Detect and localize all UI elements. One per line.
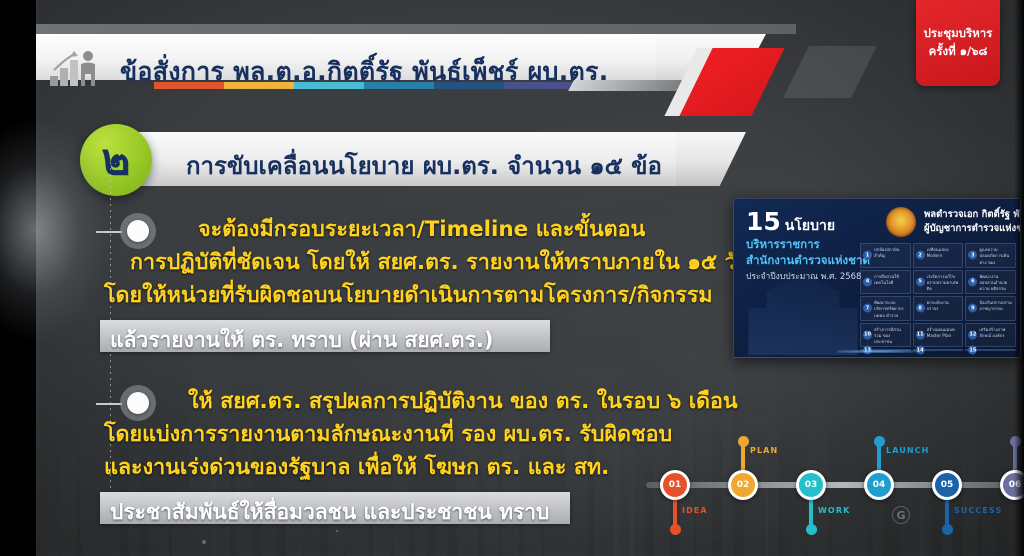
- policy-label-8: ยกระดับงาน จราจร: [927, 300, 961, 317]
- timeline-cap-05: [942, 524, 953, 535]
- timeline-cap-02: [738, 436, 749, 447]
- bullet-1-line-3: โดยให้หน่วยที่รับผิดชอบนโยบายดำเนินการตา…: [104, 285, 713, 307]
- badge-line-1: ประชุมบริหาร: [924, 26, 993, 42]
- policy-number-5: 5: [916, 277, 925, 286]
- bullet-1-line-2: การปฏิบัติที่ชัดเจน โดยให้ สยศ.ตร. รายงา…: [130, 252, 751, 274]
- policy-cell-3: 3ดูแลความ ปลอดภัยการเดินทาง ของประชาชน: [965, 243, 1016, 268]
- bullet-1-line-1: จะต้องมีกรอบระยะเวลา/Timeline และขั้นตอน: [198, 219, 645, 241]
- timeline-node-04[interactable]: 04: [864, 470, 894, 500]
- timeline-cap-04: [874, 436, 885, 447]
- policy-number-7: 7: [863, 304, 872, 313]
- bullet-connector-line: [96, 231, 122, 233]
- policy-number-15: 15: [968, 346, 977, 355]
- inset-fiscal-year: ประจำปีงบประมาณ พ.ศ. 2568: [746, 269, 861, 283]
- inset-policy-grid: 1ปกป้องสถาบัน สำคัญ2เปลี่ยนแปลง Modern3ด…: [860, 243, 1016, 351]
- sparkle-dot: [202, 540, 206, 544]
- policy-number-3: 3: [968, 251, 977, 260]
- timeline-node-06[interactable]: 06: [1000, 470, 1024, 500]
- timeline-cap-01: [670, 524, 681, 535]
- inset-official-name: พลตำรวจเอก กิตติ์รัฐ พันธุ์เพ็ชร์ ผู้บัญ…: [924, 208, 1021, 237]
- policy-number-12: 12: [968, 330, 977, 339]
- section-title: การขับเคลื่อนนโยบาย ผบ.ตร. จำนวน ๑๕ ข้อ: [186, 146, 662, 185]
- slide-header: ข้อสั่งการ พล.ต.อ.กิตติ์รัฐ พันธุ์เพ็ชร์…: [36, 24, 1024, 96]
- skyline-block: [60, 420, 77, 556]
- policy-cell-5: 5เร่งรัดการแก้ไข ปราบปรามยาเสพติด: [913, 270, 964, 295]
- bullet-marker-1: [120, 213, 156, 249]
- accent-segment-5: [434, 82, 504, 89]
- header-top-strip: [36, 24, 796, 34]
- inset-policy-count: 15นโยบาย: [746, 209, 835, 234]
- process-timeline: G 01IDEA02PLAN03WORK04LAUNCH05SUCCESS06T…: [646, 432, 1024, 544]
- policy-cell-11: 11สร้างแผนแม่บท Master Plan: [913, 323, 964, 348]
- section-header: ๒ การขับเคลื่อนนโยบาย ผบ.ตร. จำนวน ๑๕ ข้…: [58, 128, 758, 190]
- timeline-label-work: WORK: [818, 506, 850, 515]
- policy-number-9: 9: [968, 304, 977, 313]
- policy-cell-4: 4การสืบสวนใช้ เทคโนโลยี: [860, 270, 911, 295]
- policy-number-14: 14: [916, 346, 925, 355]
- policy-label-12: เสริมสร้างภาพลักษณ์ องค์กร: [979, 327, 1013, 344]
- policy-number-1: 1: [863, 251, 872, 260]
- policy-label-10: สร้างการมีส่วนร่วม ของประชาชน: [874, 327, 908, 344]
- slide-screenshot: ข้อสั่งการ พล.ต.อ.กิตติ์รัฐ พันธุ์เพ็ชร์…: [0, 0, 1024, 556]
- policy-cell-8: 8ยกระดับงาน จราจร: [913, 296, 964, 321]
- policy-cell-1: 1ปกป้องสถาบัน สำคัญ: [860, 243, 911, 268]
- policy-label-2: เปลี่ยนแปลง Modern: [927, 247, 961, 264]
- policy-label-7: พัฒนาระบบ บริหารทรัพยากรบุคคล ตำรวจ: [874, 300, 908, 317]
- policy-label-9: ป้องกันปราบปราม อาชญากรรม: [979, 300, 1013, 317]
- inset-subtitle-line-2: สำนักงานตำรวจแห่งชาติ: [746, 253, 870, 269]
- policy-label-3: ดูแลความ ปลอดภัยการเดินทาง ของประชาชน: [979, 247, 1013, 264]
- timeline-cap-06: [1010, 436, 1021, 447]
- policy-cell-6: 6พัฒนางาน สอบสวนอำนวยความ ยุติธรรม: [965, 270, 1016, 295]
- timeline-node-01[interactable]: 01: [660, 470, 690, 500]
- timeline-node-03[interactable]: 03: [796, 470, 826, 500]
- skyline-block: [630, 448, 645, 556]
- bullet-spine: [110, 150, 111, 500]
- policy-number-6: 6: [968, 277, 977, 286]
- highlight-band-text-1: แล้วรายงานให้ ตร. ทราบ (ผ่าน สยศ.ตร.): [110, 324, 493, 357]
- timeline-label-success: SUCCESS: [954, 506, 1002, 515]
- timeline-node-05[interactable]: 05: [932, 470, 962, 500]
- accent-segment-2: [224, 82, 294, 89]
- policy-cell-15: 15บริหารงบประมาณ: [965, 349, 1016, 351]
- bullet-marker-2: [120, 385, 156, 421]
- sparkle-dot: [282, 508, 284, 510]
- policy-label-6: พัฒนางาน สอบสวนอำนวยความ ยุติธรรม: [979, 274, 1013, 291]
- header-accent-bar: [154, 82, 574, 89]
- inset-count-number: 15: [746, 207, 781, 236]
- sparkle-dot: [336, 530, 338, 532]
- bullet-2-line-1: ให้ สยศ.ตร. สรุปผลการปฏิบัติงาน ของ ตร. …: [188, 391, 738, 413]
- timeline-label-plan: PLAN: [750, 446, 778, 455]
- left-letterbox: [0, 0, 36, 556]
- bullet-connector-line: [96, 403, 122, 405]
- policy-label-1: ปกป้องสถาบัน สำคัญ: [874, 247, 908, 264]
- policy-cell-12: 12เสริมสร้างภาพลักษณ์ องค์กร: [965, 323, 1016, 348]
- inset-bottom-glow: [837, 350, 917, 353]
- bullet-2-line-2: โดยแบ่งการรายงานตามลักษณะงานที่ รอง ผบ.ต…: [104, 424, 672, 446]
- policy-number-11: 11: [916, 330, 925, 339]
- sparkle-dot: [226, 520, 229, 523]
- garuda-seal-icon: [886, 207, 916, 237]
- inset-count-unit: นโยบาย: [785, 218, 835, 234]
- policy-cell-9: 9ป้องกันปราบปราม อาชญากรรม: [965, 296, 1016, 321]
- target-circle-icon: G: [892, 506, 910, 524]
- accent-segment-1: [154, 82, 224, 89]
- bullet-2-line-3: และงานเร่งด่วนของรัฐบาล เพื่อให้ โฆษก ตร…: [104, 457, 609, 479]
- header-parallelogram-gray: [783, 46, 876, 98]
- policy-cell-7: 7พัฒนาระบบ บริหารทรัพยากรบุคคล ตำรวจ: [860, 296, 911, 321]
- badge-line-2: ครั้งที่ ๑/๖๘: [929, 44, 988, 60]
- slide-canvas: ข้อสั่งการ พล.ต.อ.กิตติ์รัฐ พันธุ์เพ็ชร์…: [36, 0, 1024, 556]
- timeline-rail: [646, 482, 1024, 488]
- policy-slide-thumbnail[interactable]: 15นโยบาย บริหารราชการ สำนักงานตำรวจแห่งช…: [733, 198, 1021, 358]
- policy-number-4: 4: [863, 277, 872, 286]
- timeline-node-02[interactable]: 02: [728, 470, 758, 500]
- inset-official-line-2: ผู้บัญชาการตำรวจแห่งชาติ: [924, 222, 1021, 236]
- policy-cell-14: 14พัฒนาสวัสดิการ ข้าราชการตำรวจ: [913, 349, 964, 351]
- policy-number-10: 10: [863, 330, 872, 339]
- timeline-label-launch: LAUNCH: [886, 446, 929, 455]
- accent-segment-4: [364, 82, 434, 89]
- policy-label-4: การสืบสวนใช้ เทคโนโลยี: [874, 274, 908, 291]
- skyline-block: [40, 494, 59, 556]
- policy-number-8: 8: [916, 304, 925, 313]
- policy-number-2: 2: [916, 251, 925, 260]
- header-bar: ข้อสั่งการ พล.ต.อ.กิตติ์รัฐ พันธุ์เพ็ชร์…: [36, 34, 656, 80]
- accent-segment-6: [504, 82, 574, 89]
- person-bar-chart-icon: [50, 50, 102, 86]
- meeting-badge: ประชุมบริหาร ครั้งที่ ๑/๖๘: [916, 0, 1000, 86]
- section-number-badge: ๒: [80, 124, 152, 196]
- timeline-cap-03: [806, 524, 817, 535]
- policy-label-11: สร้างแผนแม่บท Master Plan: [927, 327, 961, 344]
- policy-cell-10: 10สร้างการมีส่วนร่วม ของประชาชน: [860, 323, 911, 348]
- highlight-band-text-2: ประชาสัมพันธ์ให้สื่อมวลชน และประชาชน ทรา…: [110, 496, 549, 529]
- policy-label-5: เร่งรัดการแก้ไข ปราบปรามยาเสพติด: [927, 274, 961, 291]
- accent-segment-3: [294, 82, 364, 89]
- inset-subtitle-line-1: บริหารราชการ: [746, 237, 870, 253]
- inset-official-line-1: พลตำรวจเอก กิตติ์รัฐ พันธุ์เพ็ชร์: [924, 208, 1021, 222]
- timeline-label-idea: IDEA: [682, 506, 708, 515]
- skyline-block: [81, 404, 105, 556]
- policy-cell-2: 2เปลี่ยนแปลง Modern: [913, 243, 964, 268]
- inset-subtitle: บริหารราชการ สำนักงานตำรวจแห่งชาติ: [746, 237, 870, 268]
